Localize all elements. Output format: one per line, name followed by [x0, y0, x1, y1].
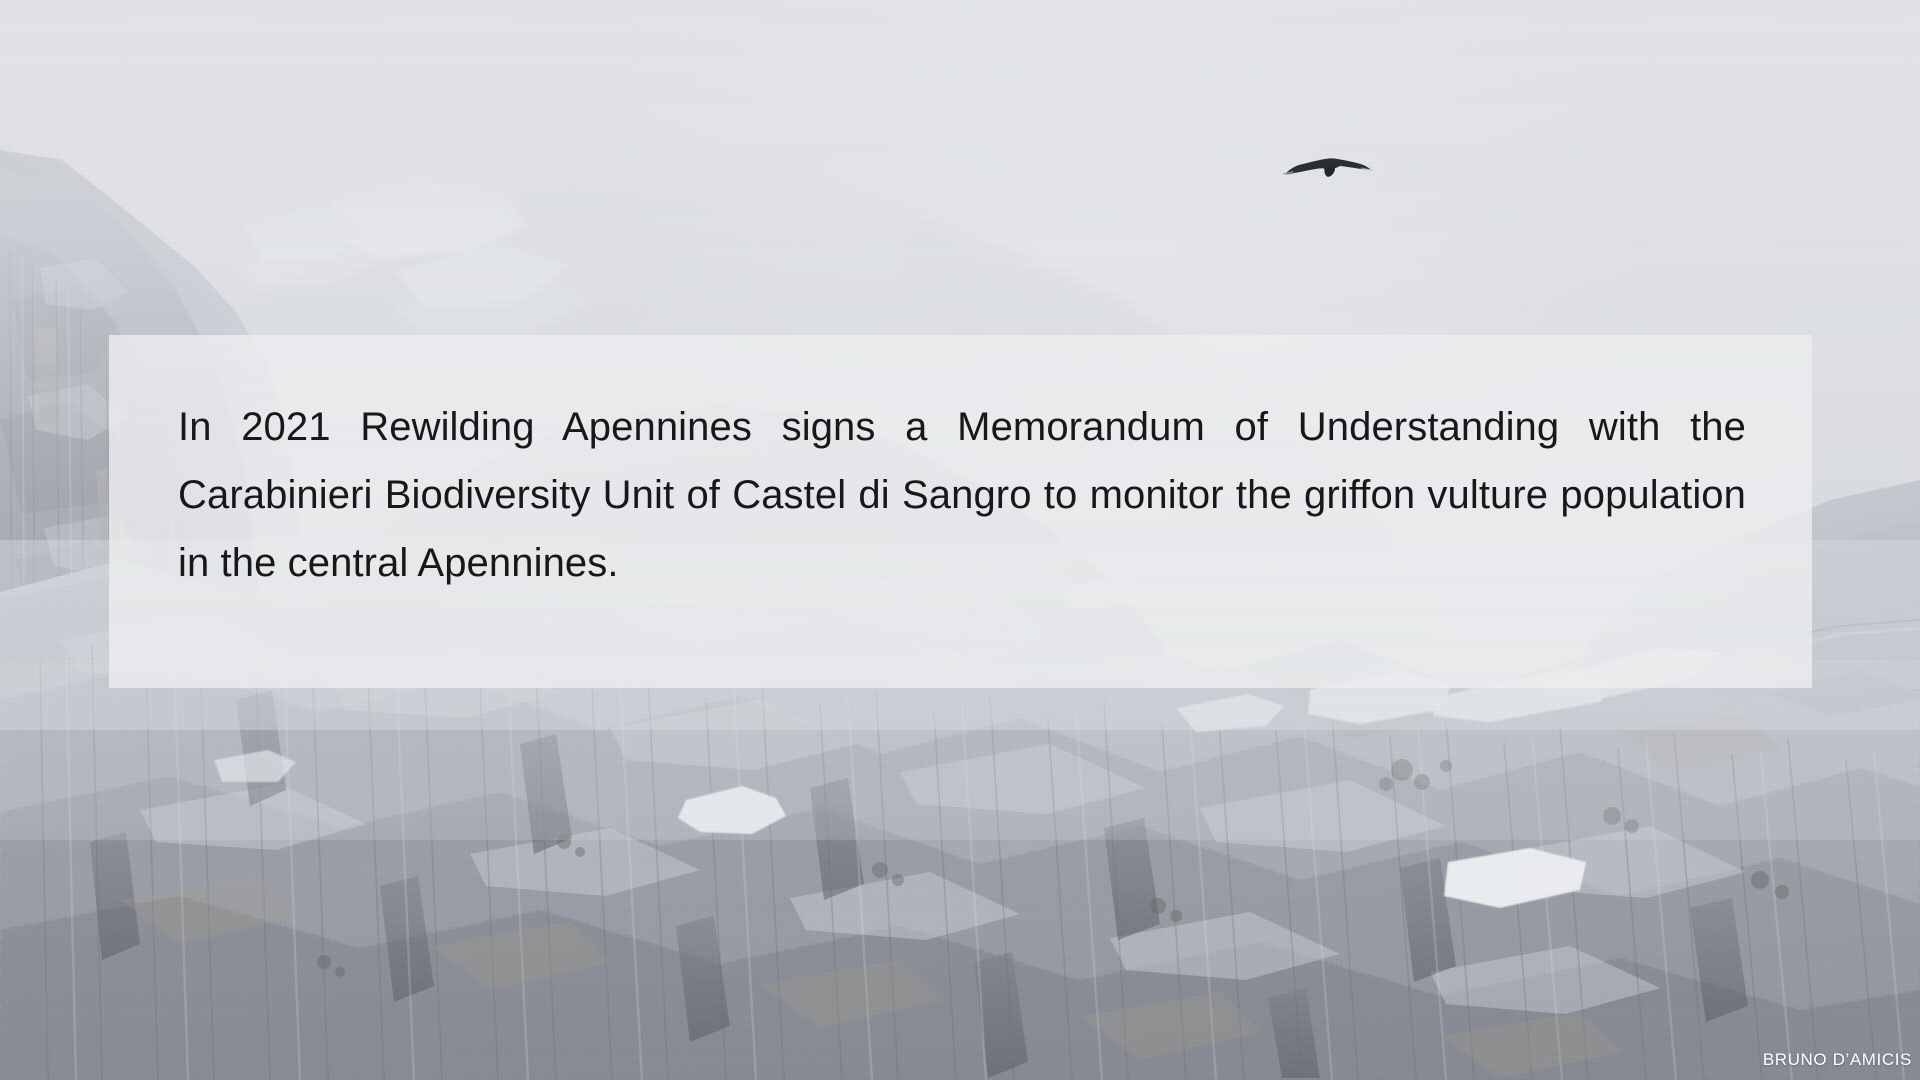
caption-text: In 2021 Rewilding Apennines signs a Memo…	[178, 393, 1746, 597]
photo-credit: BRUNO D’AMICIS	[1763, 1050, 1912, 1070]
caption-panel: In 2021 Rewilding Apennines signs a Memo…	[109, 335, 1812, 688]
photo-slide: In 2021 Rewilding Apennines signs a Memo…	[0, 0, 1920, 1080]
griffon-vulture-icon	[1281, 148, 1373, 192]
